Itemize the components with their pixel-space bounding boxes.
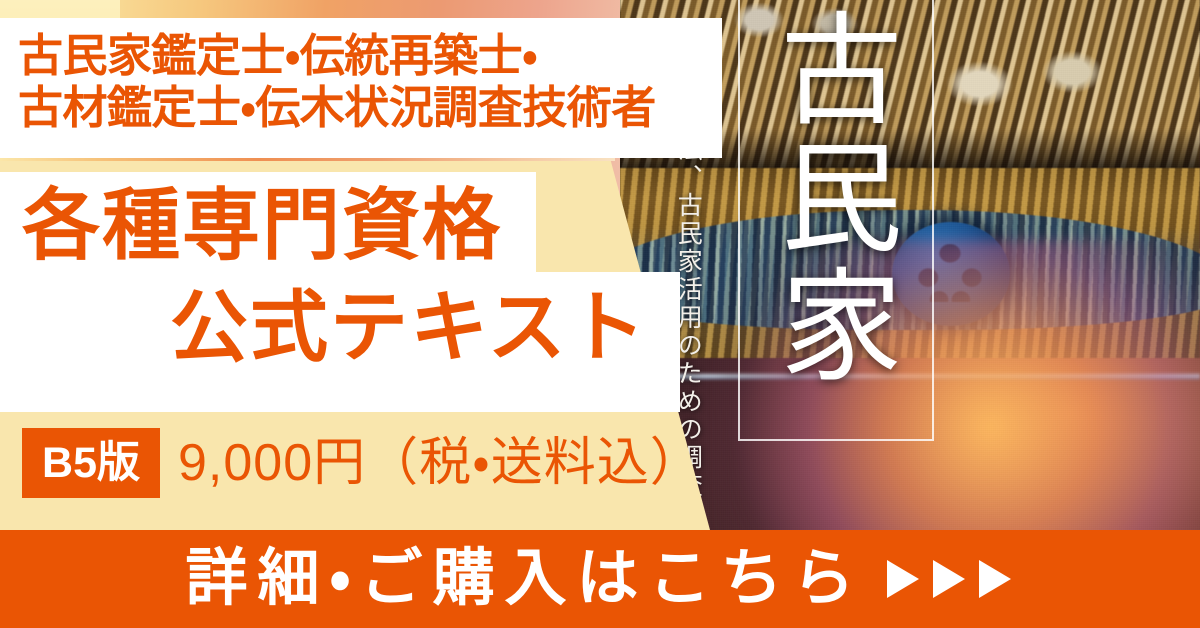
cta-label: 詳細・ご購入はこちら xyxy=(185,548,864,610)
qualification-list: 古民家鑑定士・伝統再築士・ 古材鑑定士・伝木状況調査技術者 xyxy=(18,30,718,134)
size-badge: B5版 xyxy=(22,428,160,498)
triangle-right-icon xyxy=(929,556,969,602)
promo-banner: 伝統構法、古民家活用のための調査と再生の 古民家 古民家鑑定士・伝統再築士・ 古… xyxy=(0,0,1200,628)
cta-bar[interactable]: 詳細・ご購入はこちら xyxy=(0,530,1200,628)
qualification-line-1: 古民家鑑定士・伝統再築士・ xyxy=(18,30,718,82)
headline-line-1: 各種専門資格 xyxy=(22,186,502,264)
qualification-line-2: 古材鑑定士・伝木状況調査技術者 xyxy=(18,82,718,134)
price-text: 9,000円（税・送料込） xyxy=(178,428,703,498)
triangle-right-icon xyxy=(883,556,923,602)
triangle-right-icon xyxy=(975,556,1015,602)
price-row: B5版 9,000円（税・送料込） xyxy=(0,425,700,503)
headline-line-2: 公式テキスト xyxy=(170,288,648,366)
cta-arrow-group xyxy=(883,556,1015,602)
cover-title: 古民家 xyxy=(768,6,900,436)
